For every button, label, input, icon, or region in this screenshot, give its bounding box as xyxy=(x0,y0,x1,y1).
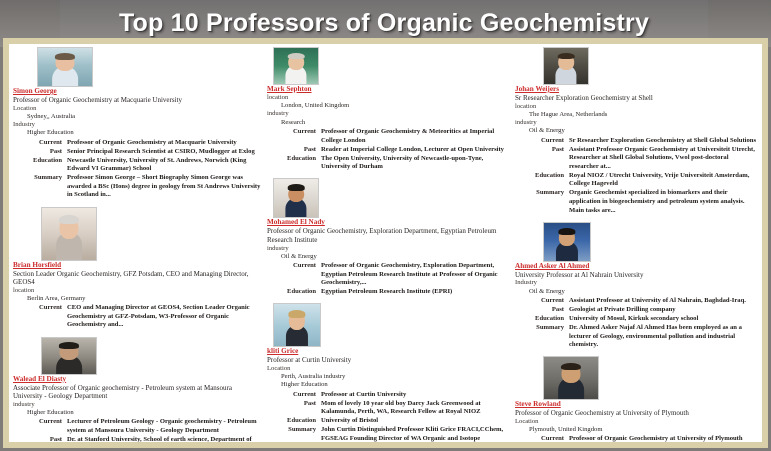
detail-row-value: Assistant Professor at University of Al … xyxy=(569,297,758,306)
profile-name-link[interactable]: Ahmed Asker Al Ahmed xyxy=(515,262,758,271)
location-label: industry xyxy=(13,401,261,409)
detail-row: SummaryDr. Ahmed Asker Najaf Al Ahmed Ha… xyxy=(515,324,758,350)
detail-row-value: Egyptian Petroleum Research Institute (E… xyxy=(321,288,509,297)
detail-row-value: Senior Principal Research Scientist at C… xyxy=(67,148,261,157)
location-value: Oil & Energy xyxy=(267,253,509,261)
detail-row-label: Current xyxy=(13,418,67,427)
location-value: The Hague Area, Netherlands xyxy=(515,111,758,119)
detail-row-label: Current xyxy=(267,128,321,137)
detail-rows: CurrentProfessor of Organic Geochemistry… xyxy=(13,139,261,200)
content-page: Simon GeorgeProfessor of Organic Geochem… xyxy=(9,44,762,442)
detail-row-value: Sr Researcher Exploration Geochemistry a… xyxy=(569,137,758,146)
detail-row: EducationNewcastle University, Universit… xyxy=(13,157,261,174)
profile-card: Walead El DiastyAssociate Professor of O… xyxy=(9,331,265,442)
detail-row: CurrentLecturer of Petroleum Geology - O… xyxy=(13,418,261,435)
location-label: location xyxy=(267,94,509,102)
profile-photo xyxy=(543,356,599,400)
profile-card: Ahmed Asker Al AhmedUniversity Professor… xyxy=(513,216,762,350)
profile-name-link[interactable]: Walead El Diasty xyxy=(13,375,261,384)
profile-card: kliti GriceProfessor at Curtin Universit… xyxy=(265,297,513,442)
detail-row-value: Royal NIOZ / Utrecht University, Vrije U… xyxy=(569,172,758,189)
profile-photo xyxy=(273,303,321,347)
industry-value: Higher Education xyxy=(13,129,261,137)
detail-row-label: Current xyxy=(515,137,569,146)
profile-name-link[interactable]: kliti Grice xyxy=(267,347,509,356)
detail-row: SummaryOrganic Geochemist specialized in… xyxy=(515,189,758,215)
detail-row-value: Mom of lovely 10 year old boy Darcy Jack… xyxy=(321,400,509,417)
profile-card: Brian HorsfieldSection Leader Organic Ge… xyxy=(9,201,265,331)
detail-row: EducationRoyal NIOZ / Utrecht University… xyxy=(515,172,758,189)
detail-row: SummaryJohn Curtin Distinguished Profess… xyxy=(267,426,509,442)
detail-row-value: CEO and Managing Director at GEOS4, Sect… xyxy=(67,304,261,330)
detail-row-value: Professor at Curtin University xyxy=(321,391,509,400)
profile-photo xyxy=(543,222,591,262)
location-value: London, United Kingdom xyxy=(267,102,509,110)
detail-row-label: Current xyxy=(267,262,321,271)
profile-name-link[interactable]: Brian Horsfield xyxy=(13,261,261,270)
detail-row-label: Education xyxy=(13,157,67,166)
profile-name-link[interactable]: Steve Rowland xyxy=(515,400,758,409)
detail-row-value: John Curtin Distinguished Professor Klit… xyxy=(321,426,509,442)
detail-row-label: Current xyxy=(515,435,569,442)
page-title: Top 10 Professors of Organic Geochemistr… xyxy=(119,9,649,38)
detail-row-label: Past xyxy=(267,400,321,409)
detail-rows: CurrentSr Researcher Exploration Geochem… xyxy=(515,137,758,216)
detail-row-value: Professor of Organic Geochemistry, Explo… xyxy=(321,262,509,288)
detail-row-label: Current xyxy=(13,304,67,313)
profile-name-link[interactable]: Johan Weijers xyxy=(515,85,758,94)
detail-row-label: Past xyxy=(515,146,569,155)
industry-label: industry xyxy=(515,119,758,127)
detail-rows: CurrentProfessor of Organic Geochemistry… xyxy=(267,262,509,297)
location-value: Sydney,, Australia xyxy=(13,113,261,121)
profile-name-link[interactable]: Mark Sephton xyxy=(267,85,509,94)
industry-label: industry xyxy=(267,110,509,118)
profile-card: Mark SephtonlocationLondon, United Kingd… xyxy=(265,44,513,172)
profile-card: Mohamed El NadyProfessor of Organic Geoc… xyxy=(265,172,513,297)
profile-photo xyxy=(273,47,319,85)
profile-column-1: Simon GeorgeProfessor of Organic Geochem… xyxy=(9,44,265,442)
detail-row-value: Reader at Imperial College London, Lectu… xyxy=(321,146,509,155)
detail-row-label: Education xyxy=(267,155,321,164)
profile-photo xyxy=(273,178,319,218)
profile-card: Simon GeorgeProfessor of Organic Geochem… xyxy=(9,44,265,200)
profile-photo xyxy=(41,207,97,261)
detail-row-value: Professor Simon George – Short Biography… xyxy=(67,174,261,200)
profile-name-link[interactable]: Simon George xyxy=(13,87,261,96)
profile-headline: Section Leader Organic Geochemistry, GFZ… xyxy=(13,270,261,287)
location-value: Plymouth, United Kingdom xyxy=(515,426,758,434)
profile-headline: Sr Researcher Exploration Geochemistry a… xyxy=(515,94,758,103)
profile-card: Johan WeijersSr Researcher Exploration G… xyxy=(513,44,762,215)
profile-name-link[interactable]: Mohamed El Nady xyxy=(267,218,509,227)
detail-row: SummaryProfessor Simon George – Short Bi… xyxy=(13,174,261,200)
detail-row-label: Past xyxy=(13,436,67,442)
page-root: Top 10 Professors of Organic Geochemistr… xyxy=(0,0,771,451)
detail-row-label: Current xyxy=(267,391,321,400)
detail-row: CurrentProfessor of Organic Geochemistry… xyxy=(267,128,509,145)
detail-row: CurrentProfessor of Organic Geochemistry… xyxy=(515,435,758,442)
location-label: location xyxy=(515,103,758,111)
profile-photo xyxy=(543,47,589,85)
location-label: Location xyxy=(515,418,758,426)
profile-headline: Professor at Curtin University xyxy=(267,356,509,365)
content-frame: Simon GeorgeProfessor of Organic Geochem… xyxy=(3,38,768,448)
detail-row-label: Past xyxy=(267,146,321,155)
detail-row-value: Dr. at Stanford University, School of ea… xyxy=(67,436,261,442)
detail-row-value: Geologist at Private Drilling company xyxy=(569,306,758,315)
detail-row-label: Education xyxy=(267,417,321,426)
detail-row-label: Current xyxy=(13,139,67,148)
detail-row: CurrentProfessor at Curtin University xyxy=(267,391,509,400)
detail-rows: CurrentCEO and Managing Director at GEOS… xyxy=(13,304,261,330)
detail-rows: CurrentLecturer of Petroleum Geology - O… xyxy=(13,418,261,442)
profile-photo xyxy=(41,337,97,375)
detail-row: EducationUniversity of Mosul, Kirkuk sec… xyxy=(515,315,758,324)
detail-row-label: Summary xyxy=(13,174,67,183)
location-label: Location xyxy=(267,365,509,373)
location-label: Location xyxy=(13,105,261,113)
industry-value: Oil & Energy xyxy=(515,127,758,135)
location-label: industry xyxy=(267,245,509,253)
profile-card: Steve RowlandProfessor of Organic Geoche… xyxy=(513,350,762,442)
detail-row-label: Current xyxy=(515,297,569,306)
detail-row: PastDr. at Stanford University, School o… xyxy=(13,436,261,442)
profile-headline: Professor of Organic Geochemistry at Uni… xyxy=(515,409,758,418)
detail-row-label: Summary xyxy=(515,189,569,198)
profile-headline: University Professor at Al Nahrain Unive… xyxy=(515,271,758,280)
detail-row-value: Professor of Organic Geochemistry at Mac… xyxy=(67,139,261,148)
profile-headline: Professor of Organic Geochemistry at Mac… xyxy=(13,96,261,105)
detail-row: CurrentCEO and Managing Director at GEOS… xyxy=(13,304,261,330)
detail-row-value: Professor of Organic Geochemistry & Mete… xyxy=(321,128,509,145)
detail-row-value: Newcastle University, University of St. … xyxy=(67,157,261,174)
location-value: Perth, Australia industry xyxy=(267,373,509,381)
detail-row-value: The Open University, University of Newca… xyxy=(321,155,509,172)
detail-row: CurrentSr Researcher Exploration Geochem… xyxy=(515,137,758,146)
detail-row-label: Past xyxy=(13,148,67,157)
detail-row-label: Summary xyxy=(515,324,569,333)
profile-column-2: Mark SephtonlocationLondon, United Kingd… xyxy=(265,44,513,442)
profile-headline: Professor of Organic Geochemistry, Explo… xyxy=(267,227,509,244)
detail-row: CurrentAssistant Professor at University… xyxy=(515,297,758,306)
detail-rows: CurrentProfessor of Organic Geochemistry… xyxy=(515,435,758,442)
detail-row-value: Dr. Ahmed Asker Najaf Al Ahmed Has been … xyxy=(569,324,758,350)
detail-row-value: Assistant Professor Organic Geochemistry… xyxy=(569,146,758,172)
profile-headline: Associate Professor of Organic geochemis… xyxy=(13,384,261,401)
location-value: Higher Education xyxy=(13,409,261,417)
detail-rows: CurrentProfessor of Organic Geochemistry… xyxy=(267,128,509,172)
detail-row: EducationThe Open University, University… xyxy=(267,155,509,172)
detail-row: PastAssistant Professor Organic Geochemi… xyxy=(515,146,758,172)
detail-row: PastSenior Principal Research Scientist … xyxy=(13,148,261,157)
location-value: Berlin Area, Germany xyxy=(13,295,261,303)
profile-photo xyxy=(37,47,93,87)
industry-value: Higher Education xyxy=(267,381,509,389)
profile-columns: Simon GeorgeProfessor of Organic Geochem… xyxy=(9,44,762,442)
detail-row-label: Education xyxy=(515,172,569,181)
industry-label: Industry xyxy=(13,121,261,129)
location-value: Oil & Energy xyxy=(515,288,758,296)
detail-row: PastMom of lovely 10 year old boy Darcy … xyxy=(267,400,509,417)
detail-row: PastReader at Imperial College London, L… xyxy=(267,146,509,155)
detail-row-value: Lecturer of Petroleum Geology - Organic … xyxy=(67,418,261,435)
detail-row-label: Education xyxy=(267,288,321,297)
location-label: Industry xyxy=(515,279,758,287)
profile-column-3: Johan WeijersSr Researcher Exploration G… xyxy=(513,44,762,442)
location-label: location xyxy=(13,287,261,295)
detail-row: CurrentProfessor of Organic Geochemistry… xyxy=(267,262,509,288)
detail-rows: CurrentProfessor at Curtin UniversityPas… xyxy=(267,391,509,442)
detail-row-value: University of Mosul, Kirkuk secondary sc… xyxy=(569,315,758,324)
detail-row: EducationEgyptian Petroleum Research Ins… xyxy=(267,288,509,297)
detail-row: PastGeologist at Private Drilling compan… xyxy=(515,306,758,315)
detail-row-value: Professor of Organic Geochemistry at Uni… xyxy=(569,435,758,442)
detail-row-value: Organic Geochemist specialized in biomar… xyxy=(569,189,758,215)
detail-row: EducationUniversity of Bristol xyxy=(267,417,509,426)
detail-row: CurrentProfessor of Organic Geochemistry… xyxy=(13,139,261,148)
detail-row-value: University of Bristol xyxy=(321,417,509,426)
detail-rows: CurrentAssistant Professor at University… xyxy=(515,297,758,350)
detail-row-label: Summary xyxy=(267,426,321,435)
industry-value: Research xyxy=(267,119,509,127)
detail-row-label: Past xyxy=(515,306,569,315)
detail-row-label: Education xyxy=(515,315,569,324)
